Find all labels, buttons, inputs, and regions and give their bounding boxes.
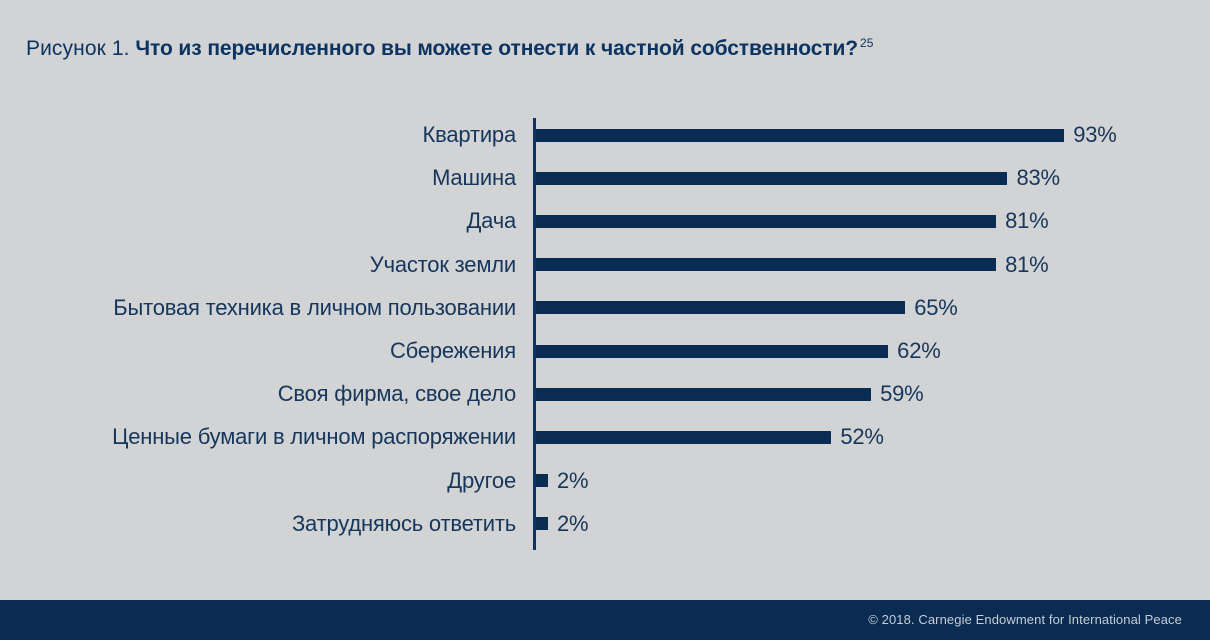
bar-row: Бытовая техника в личном пользовании65%: [0, 288, 1210, 328]
bar-row: Своя фирма, свое дело59%: [0, 374, 1210, 414]
bar-with-value: 65%: [536, 288, 958, 328]
bar-category-label: Участок земли: [0, 245, 516, 285]
bar-fill: [536, 215, 996, 228]
bar-value-label: 81%: [1005, 245, 1048, 285]
bar-row: Ценные бумаги в личном распоряжении52%: [0, 417, 1210, 457]
bar-category-label: Квартира: [0, 115, 516, 155]
bar-row: Затрудняюсь ответить2%: [0, 504, 1210, 544]
bar-with-value: 2%: [536, 504, 588, 544]
bar-value-label: 93%: [1073, 115, 1116, 155]
copyright-text: © 2018. Carnegie Endowment for Internati…: [868, 600, 1182, 640]
bar-fill: [536, 388, 871, 401]
bar-category-label: Своя фирма, свое дело: [0, 374, 516, 414]
bar-row: Машина83%: [0, 158, 1210, 198]
footer-bar: © 2018. Carnegie Endowment for Internati…: [0, 600, 1210, 640]
bar-with-value: 81%: [536, 245, 1049, 285]
bar-fill: [536, 517, 548, 530]
bar-value-label: 59%: [880, 374, 923, 414]
bar-row: Сбережения62%: [0, 331, 1210, 371]
bar-value-label: 83%: [1016, 158, 1059, 198]
bar-category-label: Другое: [0, 461, 516, 501]
bar-with-value: 2%: [536, 461, 588, 501]
bar-fill: [536, 172, 1007, 185]
bar-fill: [536, 474, 548, 487]
bar-category-label: Бытовая техника в личном пользовании: [0, 288, 516, 328]
bar-fill: [536, 129, 1064, 142]
bar-value-label: 62%: [897, 331, 940, 371]
bar-with-value: 62%: [536, 331, 941, 371]
bar-row: Участок земли81%: [0, 245, 1210, 285]
figure-number: Рисунок 1.: [26, 37, 130, 60]
bar-fill: [536, 431, 831, 444]
bar-category-label: Сбережения: [0, 331, 516, 371]
bar-fill: [536, 258, 996, 271]
bar-row: Другое2%: [0, 461, 1210, 501]
bar-row: Дача81%: [0, 201, 1210, 241]
bar-fill: [536, 345, 888, 358]
bar-category-label: Ценные бумаги в личном распоряжении: [0, 417, 516, 457]
bar-chart: Квартира93%Машина83%Дача81%Участок земли…: [0, 112, 1210, 557]
bar-value-label: 52%: [840, 417, 883, 457]
bar-category-label: Затрудняюсь ответить: [0, 504, 516, 544]
footnote-marker: 25: [860, 36, 873, 50]
bar-with-value: 93%: [536, 115, 1117, 155]
bar-with-value: 52%: [536, 417, 884, 457]
bar-value-label: 2%: [557, 461, 588, 501]
figure-title-text: Что из перечисленного вы можете отнести …: [135, 37, 858, 60]
bar-value-label: 65%: [914, 288, 957, 328]
bar-with-value: 81%: [536, 201, 1049, 241]
bar-with-value: 83%: [536, 158, 1060, 198]
bar-fill: [536, 301, 905, 314]
bar-category-label: Машина: [0, 158, 516, 198]
bar-with-value: 59%: [536, 374, 924, 414]
bar-value-label: 81%: [1005, 201, 1048, 241]
figure-page: Рисунок 1. Что из перечисленного вы може…: [0, 0, 1210, 640]
bar-category-label: Дача: [0, 201, 516, 241]
bar-value-label: 2%: [557, 504, 588, 544]
page-title: Рисунок 1. Что из перечисленного вы може…: [26, 30, 1190, 62]
bar-row: Квартира93%: [0, 115, 1210, 155]
